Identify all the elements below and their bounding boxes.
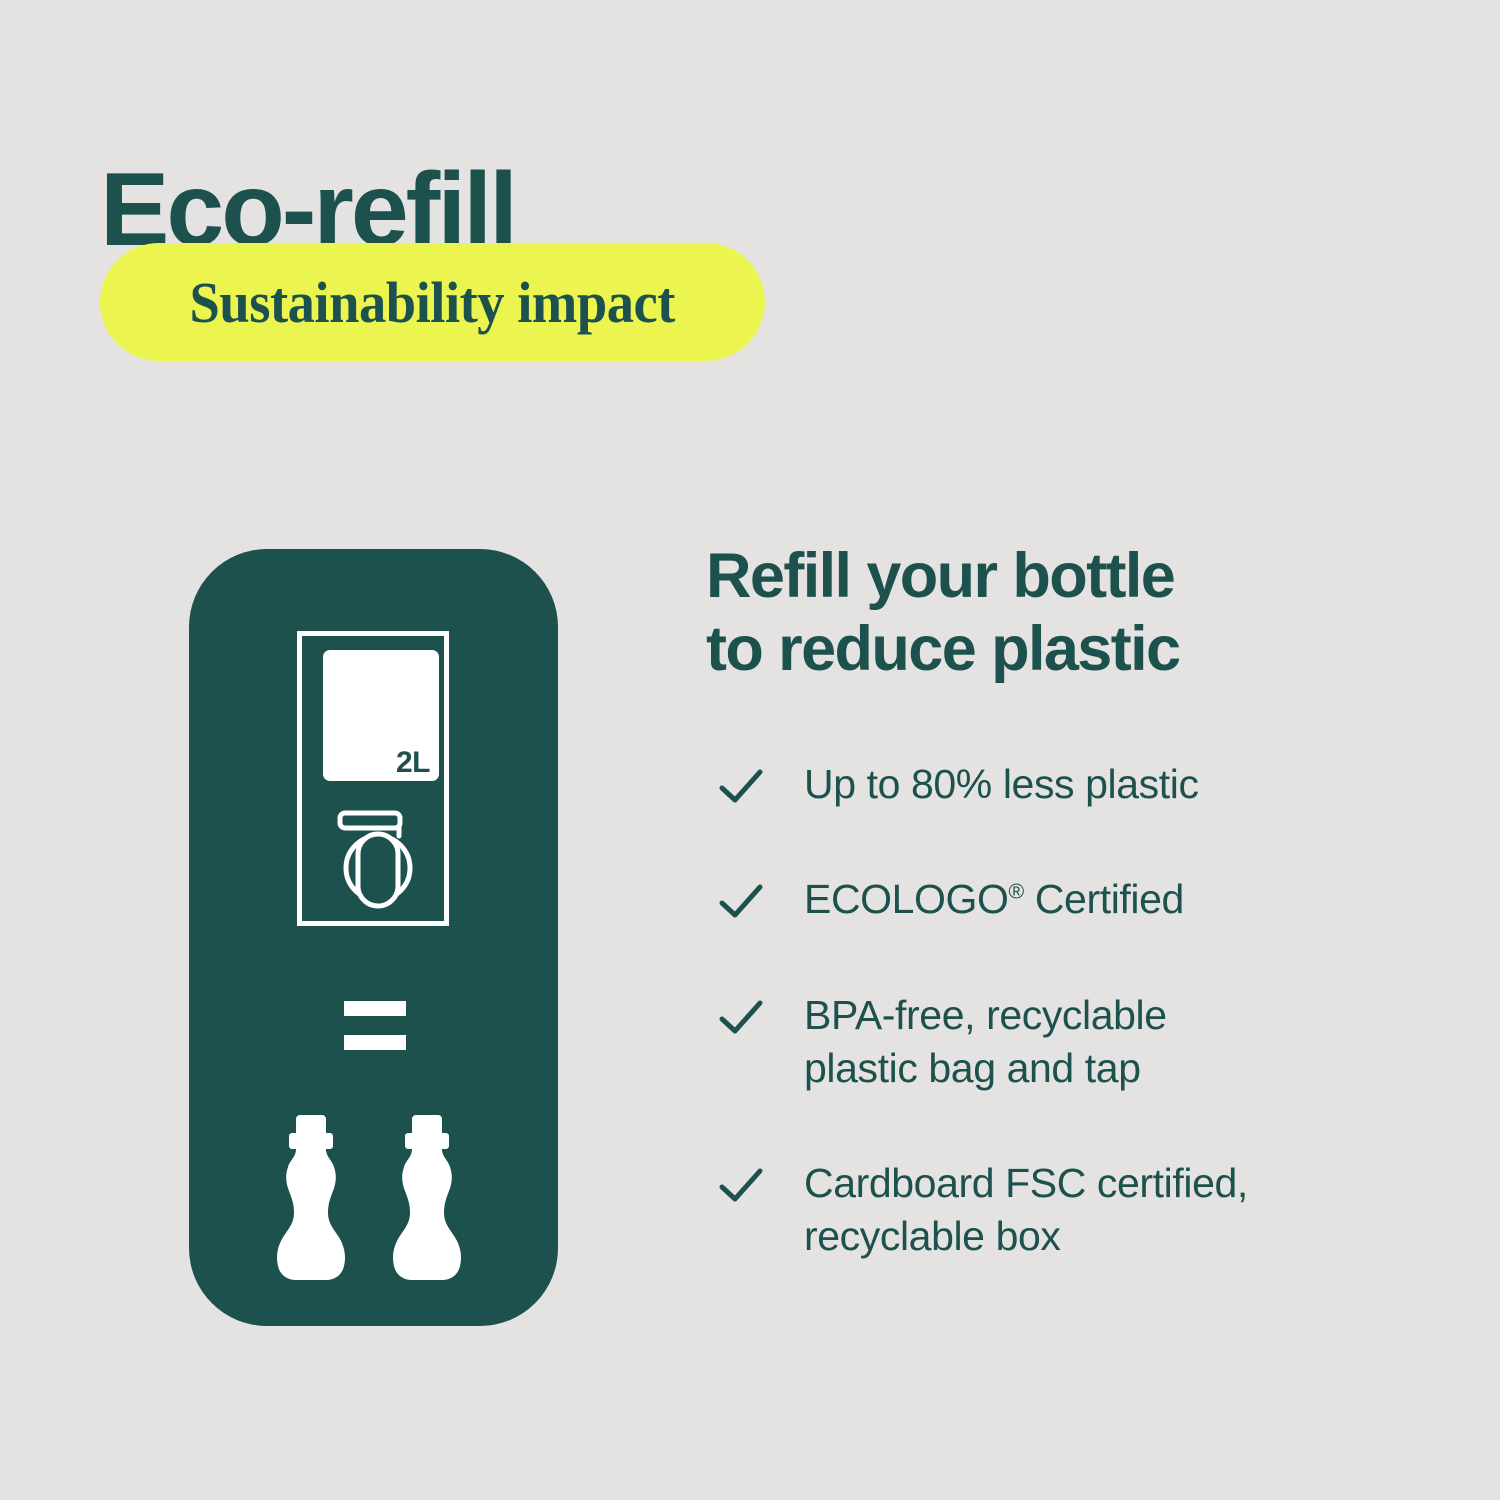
check-icon bbox=[718, 995, 764, 1041]
list-item: ECOLOGO® Certified bbox=[718, 873, 1398, 926]
refill-pouch: 2L bbox=[323, 650, 439, 781]
badge-label: Sustainability impact bbox=[190, 269, 675, 336]
content-heading: Refill your bottle to reduce plastic bbox=[706, 540, 1396, 686]
feature-label-main: ECOLOGO bbox=[804, 876, 1009, 922]
check-icon bbox=[718, 1163, 764, 1209]
check-icon bbox=[718, 764, 764, 810]
registered-mark: ® bbox=[1009, 880, 1024, 904]
list-item: BPA-free, recyclable plastic bag and tap bbox=[718, 989, 1398, 1096]
two-bottles-icon bbox=[262, 1107, 490, 1299]
feature-label: ECOLOGO® Certified bbox=[804, 873, 1184, 926]
check-icon bbox=[718, 879, 764, 925]
list-item: Up to 80% less plastic bbox=[718, 758, 1398, 811]
equals-sign-icon bbox=[344, 1001, 406, 1050]
feature-label: BPA-free, recyclable plastic bag and tap bbox=[804, 989, 1167, 1096]
feature-label: Up to 80% less plastic bbox=[804, 758, 1199, 811]
sustainability-impact-badge: Sustainability impact bbox=[100, 243, 765, 361]
eco-refill-box-illustration: 2L bbox=[189, 549, 558, 1326]
content-column: Refill your bottle to reduce plastic Up … bbox=[706, 540, 1396, 686]
refill-box-outline: 2L bbox=[297, 631, 449, 926]
feature-list: Up to 80% less plastic ECOLOGO® Certifie… bbox=[718, 758, 1398, 1264]
equals-bar-top bbox=[344, 1001, 406, 1016]
feature-label-suffix: Certified bbox=[1024, 876, 1184, 922]
tap-spout-icon bbox=[331, 806, 425, 910]
bottle-right bbox=[393, 1115, 461, 1280]
feature-label: Cardboard FSC certified, recyclable box bbox=[804, 1157, 1248, 1264]
equals-bar-bottom bbox=[344, 1035, 406, 1050]
bottle-left bbox=[277, 1115, 345, 1280]
list-item: Cardboard FSC certified, recyclable box bbox=[718, 1157, 1398, 1264]
pouch-volume-label: 2L bbox=[396, 748, 430, 778]
